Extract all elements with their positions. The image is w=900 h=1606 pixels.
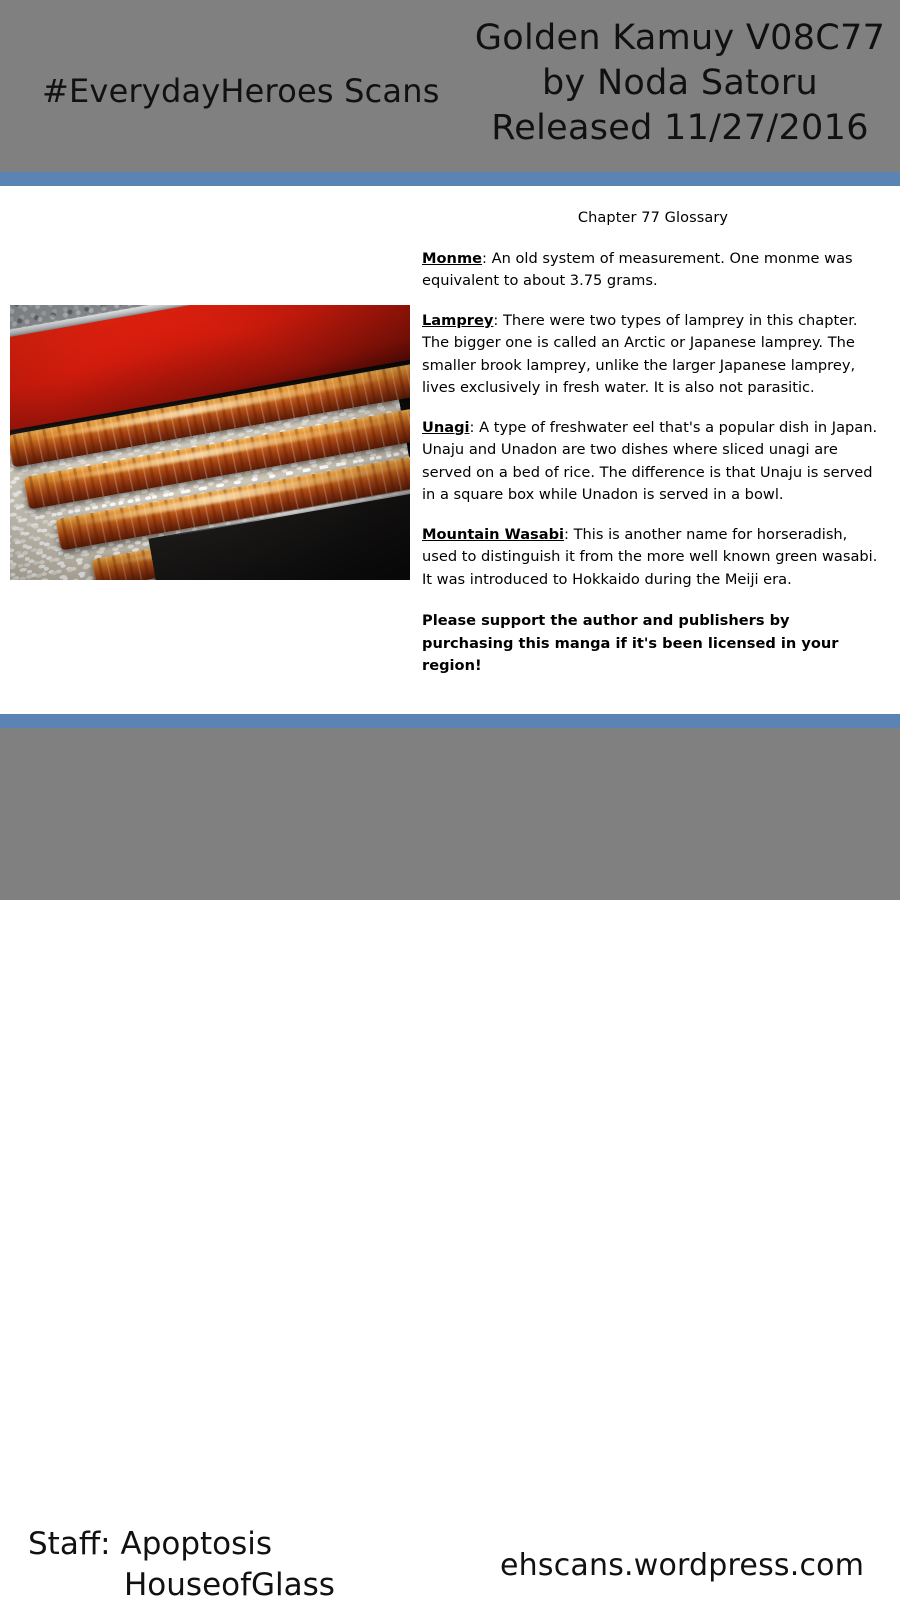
glossary-term: Monme [422,250,482,267]
credits-page: #EverydayHeroes Scans Golden Kamuy V08C7… [0,0,900,900]
staff-line-primary: Staff: Apoptosis [28,1524,335,1565]
glossary-entry: Unagi: A type of freshwater eel that's a… [422,417,884,507]
staff-line-secondary: HouseofGlass [28,1565,335,1606]
glossary-definition: An old system of measurement. One monme … [422,250,853,289]
release-date-line: Released 11/27/2016 [470,106,890,151]
photo-composition [10,305,410,580]
title-block: Golden Kamuy V08C77 by Noda Satoru Relea… [470,16,890,150]
glossary-term: Unagi [422,419,470,436]
unagi-photo [10,305,410,580]
header-band: #EverydayHeroes Scans Golden Kamuy V08C7… [0,0,900,172]
glossary-title: Chapter 77 Glossary [422,210,884,226]
support-note: Please support the author and publishers… [422,610,884,677]
footer-band: Staff: Apoptosis HouseofGlass ehscans.wo… [0,728,900,900]
glossary-term: Lamprey [422,312,493,329]
glossary-definition: A type of freshwater eel that's a popula… [422,419,877,503]
staff-credits: Staff: Apoptosis HouseofGlass [28,1524,335,1606]
glossary-entry: Lamprey: There were two types of lamprey… [422,310,884,400]
glossary-entry: Mountain Wasabi: This is another name fo… [422,524,884,591]
website-url[interactable]: ehscans.wordpress.com [500,1548,864,1583]
glossary-term: Mountain Wasabi [422,526,564,543]
glossary-panel: Chapter 77 Glossary Monme: An old system… [422,210,884,678]
manga-title-line: Golden Kamuy V08C77 [470,16,890,61]
top-divider-rule [0,172,900,186]
manga-author-line: by Noda Satoru [470,61,890,106]
glossary-entry: Monme: An old system of measurement. One… [422,248,884,293]
bottom-divider-rule [0,714,900,728]
scanlation-group-name: #EverydayHeroes Scans [42,72,440,110]
